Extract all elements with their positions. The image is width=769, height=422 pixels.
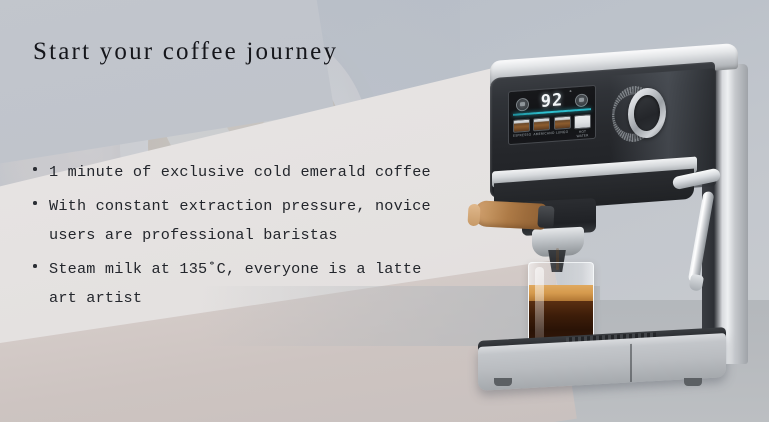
slide-canvas: Start your coffee journey 1 minute of ex… (0, 0, 769, 422)
bullet-dot-icon (33, 255, 49, 268)
drink-button-row: ESPRESSO AMERICANO LUNGO HOT WATER (513, 114, 591, 143)
drip-tray-seam (630, 344, 632, 382)
list-item-label: With constant extraction pressure, novic… (49, 192, 453, 250)
bullet-dot-icon (33, 158, 49, 171)
portafilter-wood-handle[interactable] (473, 200, 546, 230)
list-item-label: Steam milk at 135˚C, everyone is a latte… (49, 255, 453, 313)
page-title: Start your coffee journey (33, 38, 338, 66)
glass-highlight (535, 267, 544, 343)
drink-button-label: LUNGO (554, 130, 571, 135)
espresso-cup-icon (513, 119, 530, 133)
list-item-label: 1 minute of exclusive cold emerald coffe… (49, 158, 453, 187)
control-display[interactable]: 92 ˚ ESPRESSO AMERICANO LUNGO HOT (508, 85, 596, 145)
drink-button-lungo[interactable]: LUNGO (554, 116, 571, 140)
list-item: With constant extraction pressure, novic… (33, 192, 453, 250)
drink-button-hot-water[interactable]: HOT WATER (574, 114, 591, 138)
list-item: Steam milk at 135˚C, everyone is a latte… (33, 255, 453, 313)
bullet-dot-icon (33, 192, 49, 205)
drink-button-espresso[interactable]: ESPRESSO (513, 119, 530, 143)
portafilter-handle-cap (467, 204, 480, 227)
espresso-machine: 92 ˚ ESPRESSO AMERICANO LUNGO HOT (470, 52, 769, 422)
temperature-unit: ˚ (569, 91, 572, 98)
drink-button-label: HOT WATER (574, 129, 591, 138)
machine-foot (684, 378, 702, 386)
americano-cup-icon (533, 117, 550, 131)
machine-foot (494, 378, 512, 386)
drink-button-americano[interactable]: AMERICANO (533, 117, 550, 141)
feature-list: 1 minute of exclusive cold emerald coffe… (33, 158, 453, 318)
drink-button-label: AMERICANO (533, 131, 550, 136)
list-item: 1 minute of exclusive cold emerald coffe… (33, 158, 453, 187)
drink-button-label: ESPRESSO (513, 133, 530, 138)
lungo-cup-icon (554, 116, 571, 130)
hot-water-cup-icon (574, 114, 591, 129)
